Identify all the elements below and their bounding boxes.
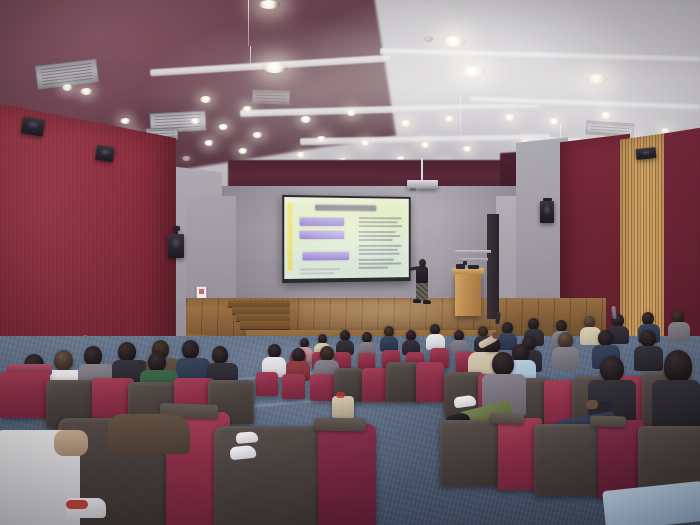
audience-torso [634,346,663,371]
audience-head [492,352,514,376]
audience-head [212,346,228,364]
seat-armrest [314,418,366,432]
slide-left-stripe [287,203,292,271]
audience-torso [652,380,700,430]
wall-speaker [95,145,115,163]
audience-head [118,342,136,362]
lectern-equipment [463,261,467,265]
seat-back [440,420,506,486]
slide-text-line [359,221,398,223]
slide-text-line [359,259,394,261]
audience-head [320,346,334,361]
slide-text-line [359,249,398,251]
slide-button-box [300,231,344,239]
seat-armrest [490,413,524,425]
shoe-stripe [66,500,88,509]
audience-head [268,344,281,358]
auditorium-photo: University auditorium lecture hall durin… [0,0,700,525]
audience-torso [552,347,579,370]
backpack-strap [336,392,345,398]
seat-back [214,426,332,525]
slide-button-box [303,252,349,260]
audience-hand [492,332,500,339]
phone [596,402,610,411]
seat-side [282,374,305,399]
slide-text-line [359,245,401,247]
slide-text-line [300,272,334,274]
audience-shoe [229,445,256,461]
stage-step [240,321,290,329]
audience-head [148,352,166,372]
audience-head [292,348,305,362]
seat-armrest [590,415,626,427]
seat-side [256,372,278,396]
seat-side [416,362,444,402]
presenter-head [419,259,426,267]
audience-head [600,356,624,382]
slide-text-line [359,267,388,269]
audience-head [84,346,102,366]
audience-head [640,330,656,347]
projector-lens [410,188,416,191]
audience-head [664,350,692,382]
slide-text-line [359,217,401,219]
audience-hand [30,420,64,440]
audience-shoe [236,431,259,444]
seat-side [362,368,388,402]
wall-speaker [540,201,554,223]
slide-text-line [359,225,402,227]
audience-hand [586,400,598,409]
stage-step [228,300,290,307]
audience-head [54,350,73,371]
equipment-column [487,214,499,319]
slide-button-box [300,218,344,226]
audience-torso [108,414,190,454]
wall-shelf [455,250,491,253]
audience-head [182,340,199,359]
slide-text-line [359,231,396,233]
seat-back [386,362,420,402]
presenter-shoe [413,299,421,303]
wall-speaker [21,116,46,137]
slide-text-line [359,239,393,241]
slide-text-line [359,253,400,255]
lectern-equipment [468,265,479,269]
seat-side [318,424,376,525]
slide-title [315,205,376,212]
seat-side [310,374,334,401]
projector-mount-pole [421,158,423,182]
lectern [455,272,481,316]
stage-step [236,314,290,321]
audience-head [558,332,573,348]
slide-text-line [359,235,400,237]
backpack [332,396,354,420]
wall-speaker [168,234,184,258]
seat-side [0,372,50,418]
projection-screen [284,197,409,279]
slide-text-line [300,268,340,270]
wall-speaker [635,147,656,160]
slide-text-line [359,262,401,264]
presenter-shoe [423,300,431,304]
audience-head [598,330,613,346]
seat-back [534,424,606,496]
stage-step [232,307,290,314]
audience-torso [668,322,690,342]
